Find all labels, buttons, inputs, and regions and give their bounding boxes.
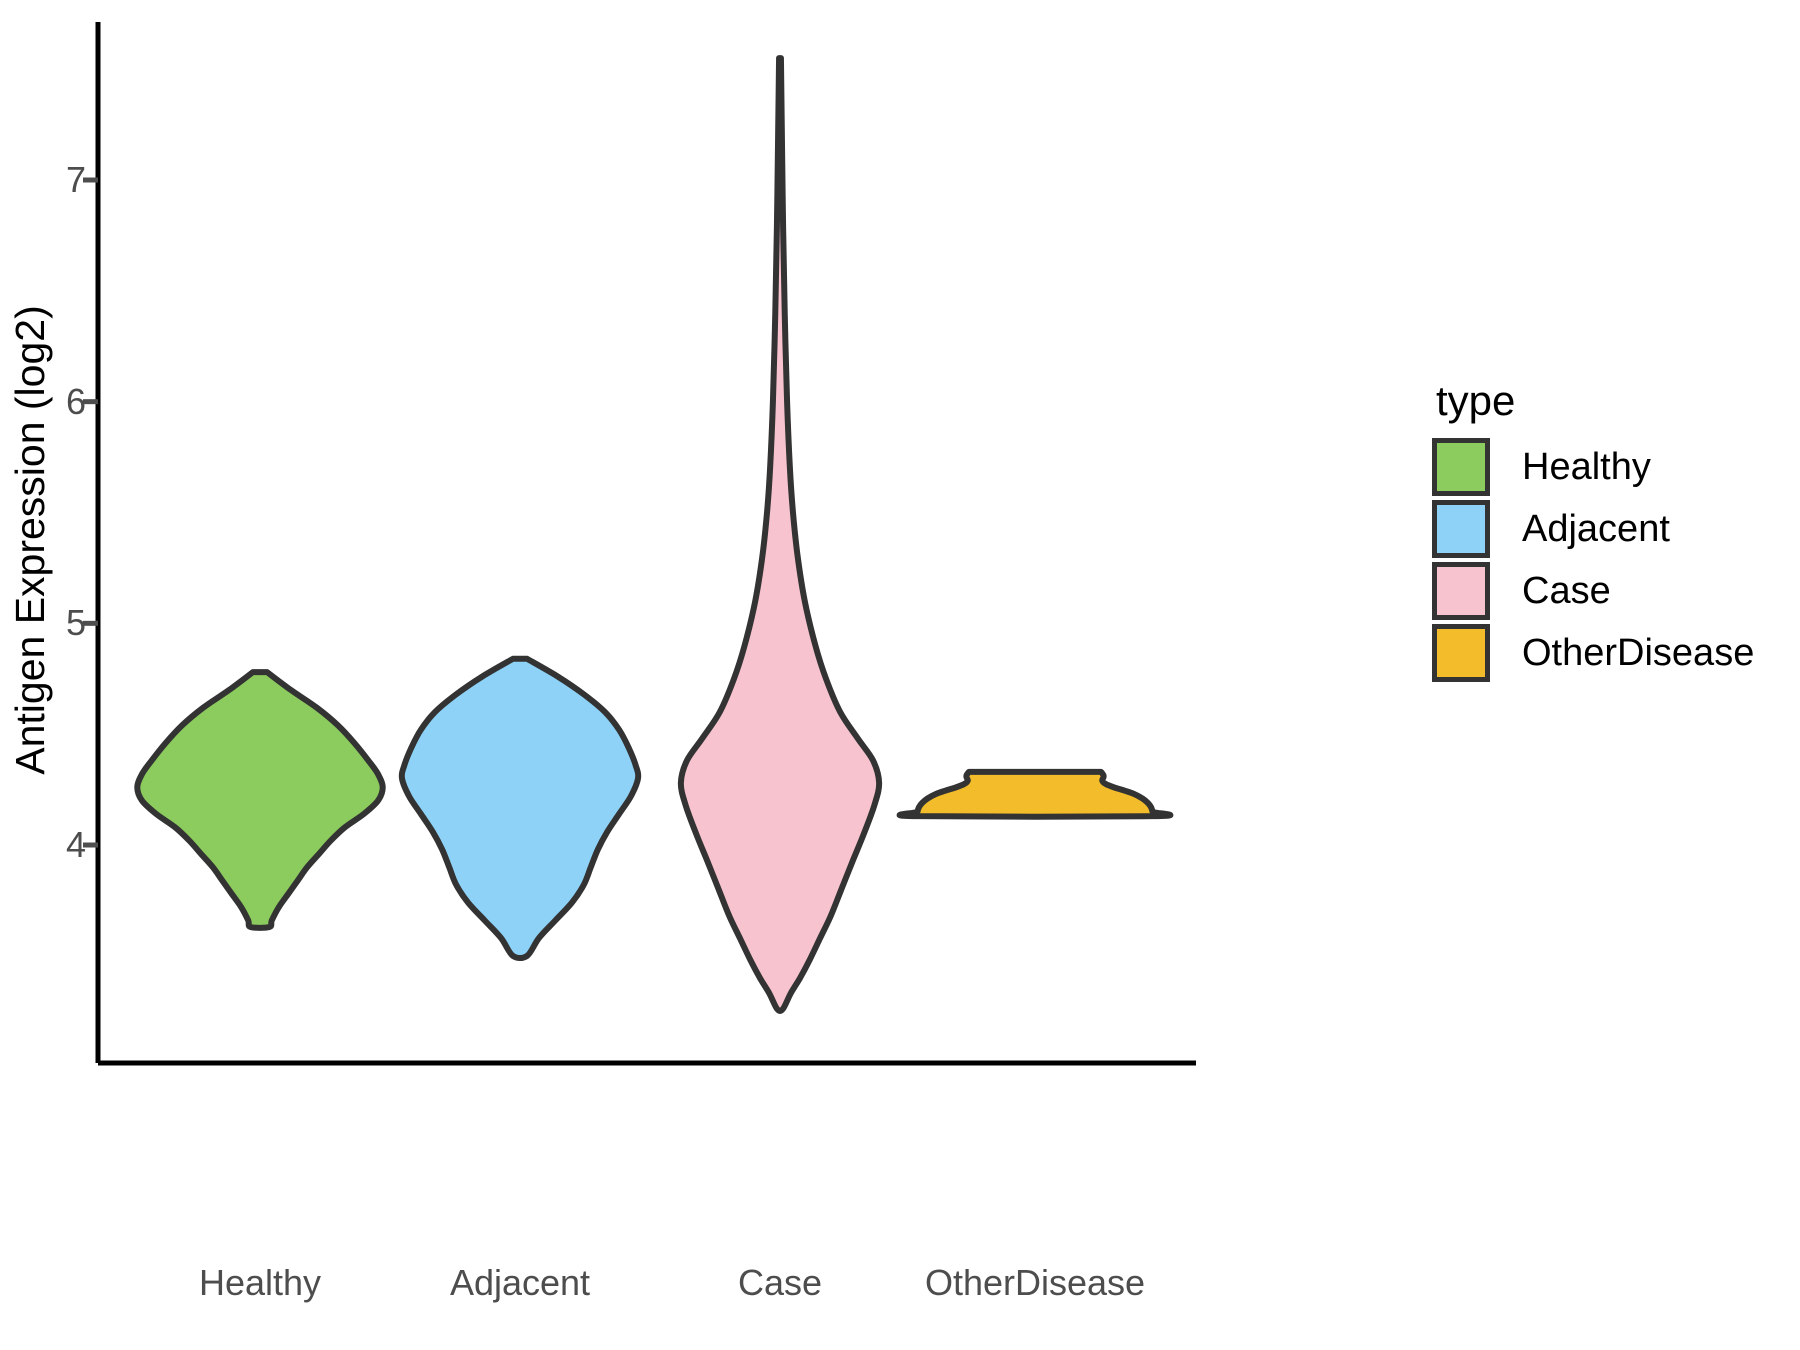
legend: type HealthyAdjacentCaseOtherDisease — [1432, 380, 1792, 684]
x-tick-label: OtherDisease — [925, 1262, 1145, 1304]
x-tick-label: Case — [738, 1262, 822, 1304]
y-axis-tick-labels: 7654 — [0, 0, 86, 1350]
x-tick-label: Adjacent — [450, 1262, 590, 1304]
violin-case — [681, 58, 879, 1011]
violin-plot-figure: Antigen Expression (log2) 7654 HealthyAd… — [0, 0, 1800, 1350]
violin-healthy — [137, 672, 382, 928]
y-tick-label: 6 — [66, 381, 86, 423]
legend-items: HealthyAdjacentCaseOtherDisease — [1432, 436, 1792, 684]
legend-swatch-healthy — [1432, 438, 1490, 496]
violin-shapes — [137, 58, 1170, 1011]
legend-item-otherdisease[interactable]: OtherDisease — [1432, 622, 1792, 684]
y-tick-label: 5 — [66, 602, 86, 644]
legend-label: Adjacent — [1522, 510, 1670, 548]
legend-title: type — [1436, 380, 1792, 422]
legend-swatch-case — [1432, 562, 1490, 620]
legend-item-adjacent[interactable]: Adjacent — [1432, 498, 1792, 560]
x-tick-label: Healthy — [199, 1262, 321, 1304]
legend-item-case[interactable]: Case — [1432, 560, 1792, 622]
legend-label: Case — [1522, 572, 1611, 610]
legend-label: Healthy — [1522, 448, 1651, 486]
legend-swatch-adjacent — [1432, 500, 1490, 558]
legend-item-healthy[interactable]: Healthy — [1432, 436, 1792, 498]
y-tick-label: 7 — [66, 159, 86, 201]
legend-swatch-otherdisease — [1432, 624, 1490, 682]
violin-otherdisease — [900, 772, 1171, 817]
legend-label: OtherDisease — [1522, 634, 1754, 672]
y-tick-label: 4 — [66, 824, 86, 866]
violin-adjacent — [402, 659, 638, 958]
